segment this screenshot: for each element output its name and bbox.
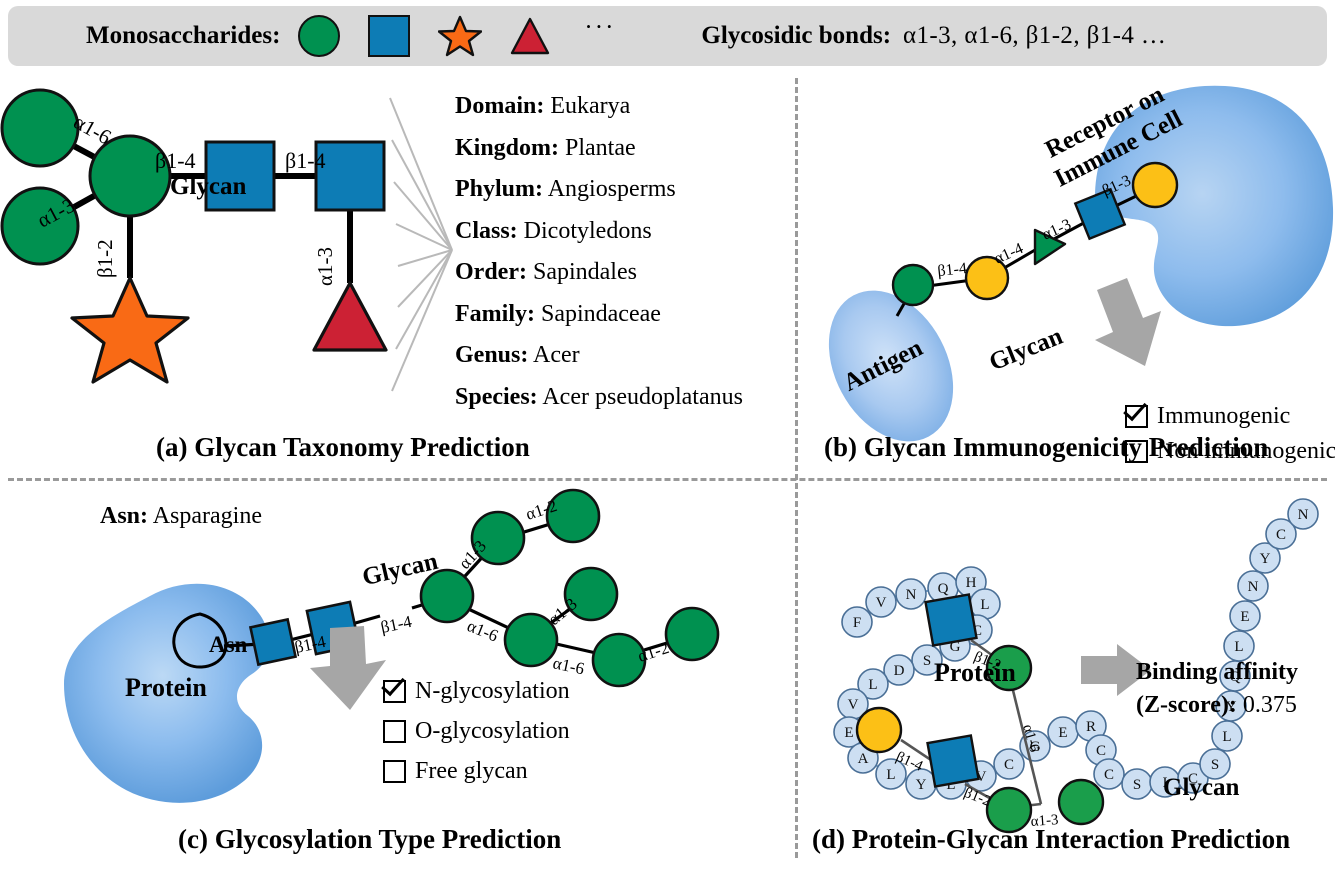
panel-glycan-immunogenicity: β1-4 α1-4 α1-3 β1-3 Receptor on Immune C… [795,78,1335,478]
result-arrow-icon [1095,278,1161,366]
taxonomy-list: Domain: Eukarya Kingdom: Plantae Phylum:… [455,86,785,418]
residue-letter: E [844,725,853,741]
asn-key: Asn: [100,503,148,529]
residue-bead: S [1122,769,1152,799]
glycosidic-bonds-label: Glycosidic bonds: [701,22,891,50]
residue-letter: N [906,587,917,603]
glycosidic-bonds-list: α1-3, α1-6, β1-2, β1-4 … [903,22,1166,50]
checkbox-unchecked-icon[interactable] [383,760,406,783]
option-o-glycosylation[interactable]: O-glycosylation [383,718,570,745]
residue-letter: L [868,677,877,693]
binding-affinity-readout: Binding affinity (Z-score): 0.375 [1136,656,1298,722]
bond-label: β1-4 [379,612,414,637]
monosaccharide-circle [593,634,645,686]
monosaccharide-square [316,142,384,210]
bond-label: α1-4 [992,240,1026,268]
legend-bar: Monosaccharides: ··· Glycosidic bonds: α… [8,6,1327,66]
taxonomy-rank: Kingdom: [455,135,559,161]
residue-letter: S [923,653,931,669]
monosaccharide-circle [2,90,78,166]
monosaccharide-circle [857,708,901,752]
taxonomy-row: Class: Dicotyledons [455,211,785,253]
panel-a-caption: (a) Glycan Taxonomy Prediction [156,432,530,463]
residue-letter: C [1104,767,1114,783]
monosaccharide-circle [547,490,599,542]
residue-letter: F [853,615,861,631]
asn-abbreviation-note: Asn: Asparagine [100,503,262,530]
checkbox-checked-icon[interactable] [1125,405,1148,428]
bond-label: β1-4 [937,260,968,280]
option-label: Free glycan [415,758,528,785]
glycan-label: Glycan [1163,774,1239,802]
monosaccharides-label: Monosaccharides: [86,22,280,50]
monosaccharide-square [926,595,977,646]
bond-label: β1-4 [155,148,196,173]
checkbox-checked-icon[interactable] [383,680,406,703]
bond-label: β1-2 [93,239,117,278]
option-label: Immunogenic [1157,403,1290,430]
bond-label: α1-2 [635,638,671,666]
residue-bead: C [1094,759,1124,789]
taxonomy-row: Phylum: Angiosperms [455,169,785,211]
bond-label: α1-3 [313,247,337,286]
taxonomy-rank: Class: [455,218,518,244]
residue-letter: D [894,663,905,679]
panel-glycan-taxonomy: α1-6 α1-3 β1-2 β1-4 β1-4 α1-3 Glycan Dom… [0,78,795,478]
taxonomy-fan-lines [390,98,452,391]
residue-letter: C [1276,527,1286,543]
residue-letter: E [1058,725,1067,741]
residue-bead: N [1288,499,1318,529]
taxonomy-row: Species: Acer pseudoplatanus [455,377,785,419]
residue-bead: V [866,587,896,617]
green-circle-icon [298,15,340,57]
panel-glycosylation-type: β1-4 β1-4 α1-3 α1-2 α1-6 α1-3 α1-6 α1-2 … [0,478,795,867]
residue-letter: R [1086,719,1096,735]
taxonomy-row: Kingdom: Plantae [455,128,785,170]
taxonomy-value: Acer pseudoplatanus [542,384,743,410]
monosaccharide-circle [421,570,473,622]
taxonomy-value: Sapindales [533,259,637,285]
checkbox-unchecked-icon[interactable] [383,720,406,743]
taxonomy-rank: Phylum: [455,176,543,202]
residue-bead: E [1230,601,1260,631]
monosaccharide-circle [1133,163,1177,207]
bond-label: α1-6 [551,653,586,678]
figure-root: Monosaccharides: ··· Glycosidic bonds: α… [0,0,1335,867]
monosaccharide-circle [893,265,933,305]
residue-letter: L [980,597,989,613]
panel-protein-glycan-interaction: FVNQHLCGSDLVEALYLVCGERCCSICSLYQLENYCN β1… [795,478,1335,867]
asn-site-label: Asn [209,632,247,658]
taxonomy-rank: Family: [455,301,535,327]
monosaccharide-triangle [314,283,386,350]
binding-affinity-label: Binding affinity [1136,659,1298,685]
residue-bead: N [896,579,926,609]
protein-label: Protein [934,658,1016,688]
option-free-glycan[interactable]: Free glycan [383,758,528,785]
asn-value: Asparagine [153,503,262,529]
residue-letter: N [1298,507,1309,523]
taxonomy-value: Angiosperms [548,176,676,202]
residue-letter: L [1234,639,1243,655]
taxonomy-value: Eukarya [550,93,630,119]
taxonomy-row: Order: Sapindales [455,252,785,294]
monosaccharide-square [250,619,295,664]
residue-bead: E [1048,717,1078,747]
monosaccharide-circle [666,608,718,660]
z-score-value: 0.375 [1243,692,1297,718]
z-score-label: (Z-score): [1136,692,1237,718]
residue-letter: S [1133,777,1141,793]
option-label: O-glycosylation [415,718,570,745]
panel-d-caption: (d) Protein-Glycan Interaction Predictio… [812,824,1290,855]
taxonomy-rank: Order: [455,259,527,285]
residue-letter: H [966,575,977,591]
residue-bead: N [1238,571,1268,601]
residue-letter: C [1004,757,1014,773]
option-immunogenic[interactable]: Immunogenic [1125,403,1290,430]
taxonomy-rank: Species: [455,384,538,410]
residue-bead: F [842,607,872,637]
residue-letter: Y [916,777,927,793]
taxonomy-value: Dicotyledons [524,218,652,244]
bond-label: β1-4 [285,148,326,173]
residue-bead: D [884,655,914,685]
monosaccharide-circle [1059,780,1103,824]
residue-letter: N [1248,579,1259,595]
monosaccharide-star [72,278,188,382]
taxonomy-value: Plantae [565,135,636,161]
legend-ellipsis: ··· [584,14,615,42]
residue-letter: E [1240,609,1249,625]
residue-letter: A [858,751,869,767]
option-label: N-glycosylation [415,678,570,705]
option-n-glycosylation[interactable]: N-glycosylation [383,678,570,705]
taxonomy-rank: Genus: [455,342,528,368]
taxonomy-row: Genus: Acer [455,335,785,377]
residue-letter: Y [1260,551,1271,567]
red-triangle-icon [510,16,550,56]
taxonomy-value: Acer [533,342,580,368]
taxonomy-rank: Domain: [455,93,544,119]
residue-letter: L [1222,729,1231,745]
panel-b-caption: (b) Glycan Immunogenicity Prediction [824,432,1268,463]
taxonomy-value: Sapindaceae [541,301,661,327]
residue-letter: V [848,697,859,713]
panel-c-caption: (c) Glycosylation Type Prediction [178,824,561,855]
residue-letter: Q [938,581,949,597]
blue-square-icon [368,15,410,57]
taxonomy-row: Family: Sapindaceae [455,294,785,336]
monosaccharide-square [928,736,979,787]
residue-letter: C [1096,743,1106,759]
taxonomy-row: Domain: Eukarya [455,86,785,128]
residue-letter: S [1211,757,1219,773]
orange-star-icon [438,15,482,57]
residue-bead: C [994,749,1024,779]
residue-bead: Y [906,769,936,799]
monosaccharide-shape-row: ··· [298,15,615,57]
residue-bead: L [1212,721,1242,751]
protein-label: Protein [125,673,207,703]
residue-letter: V [876,595,887,611]
residue-letter: L [886,767,895,783]
glycan-label: Glycan [170,173,246,201]
